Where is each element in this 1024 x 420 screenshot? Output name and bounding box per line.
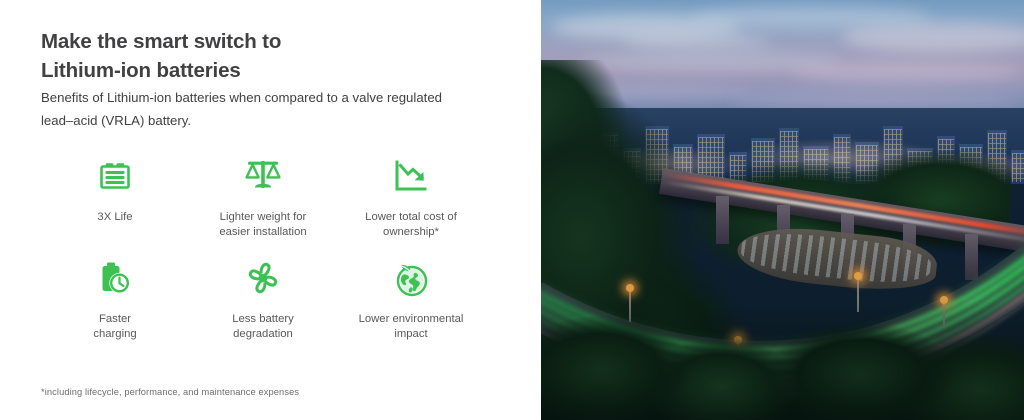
benefit-label: Lower total cost of ownership* xyxy=(365,210,457,240)
globe-leaf-icon xyxy=(390,252,432,304)
benefits-grid: 3X Life xyxy=(41,150,501,354)
fan-petals-icon xyxy=(242,252,284,304)
benefit-item-lower-impact: Lower environmental impact xyxy=(337,252,485,354)
promotional-banner: Make the smart switch to Lithium-ion bat… xyxy=(0,0,1024,420)
benefit-item-faster-charging: Faster charging xyxy=(41,252,189,354)
benefit-label: Less battery degradation xyxy=(232,312,294,342)
benefit-label: Lower environmental impact xyxy=(359,312,464,342)
forest-foreground xyxy=(541,300,1024,420)
benefit-label: 3X Life xyxy=(97,210,132,225)
subtitle-text: Benefits of Lithium-ion batteries when c… xyxy=(41,86,461,132)
benefit-item-lighter-weight: Lighter weight for easier installation xyxy=(189,150,337,252)
benefit-item-less-degradation: Less battery degradation xyxy=(189,252,337,354)
benefit-label: Faster charging xyxy=(93,312,136,342)
content-panel: Make the smart switch to Lithium-ion bat… xyxy=(0,0,541,420)
benefit-label: Lighter weight for easier installation xyxy=(219,210,306,240)
benefit-item-3x-life: 3X Life xyxy=(41,150,189,252)
cityscape-photo xyxy=(541,0,1024,420)
page-title: Make the smart switch to Lithium-ion bat… xyxy=(41,27,501,85)
cloud-shape xyxy=(621,34,771,48)
cloud-shape xyxy=(791,62,1021,82)
balance-scales-icon xyxy=(241,150,285,202)
battery-life-icon xyxy=(95,150,135,202)
footnote-text: *including lifecycle, performance, and m… xyxy=(41,386,299,398)
benefit-item-lower-cost: Lower total cost of ownership* xyxy=(337,150,485,252)
declining-chart-icon xyxy=(390,150,432,202)
battery-clock-icon xyxy=(94,252,136,304)
